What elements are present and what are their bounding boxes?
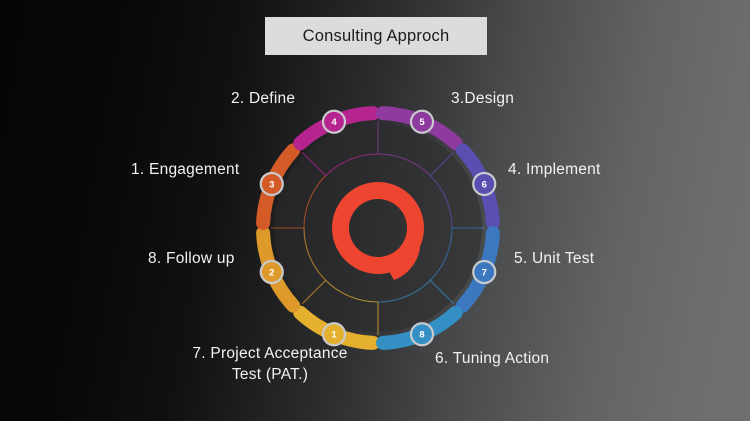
step-label-2: 2. Define (231, 88, 295, 109)
step-label-7-line1: 7. Project Acceptance (192, 345, 347, 362)
slide-canvas: Consulting Approch 12345678 1. Engagemen… (0, 0, 750, 421)
badge-number-8: 8 (419, 330, 424, 341)
step-badge-8[interactable]: 8 (411, 323, 433, 345)
step-label-4: 4. Implement (508, 159, 601, 180)
step-badge-5[interactable]: 5 (411, 111, 433, 133)
step-badge-1[interactable]: 1 (323, 323, 345, 345)
badge-number-5: 5 (419, 117, 425, 128)
step-label-8: 8. Follow up (148, 248, 235, 269)
badge-number-7: 7 (482, 267, 487, 278)
step-label-5: 5. Unit Test (514, 248, 594, 269)
step-badge-4[interactable]: 4 (323, 111, 345, 133)
badge-number-2: 2 (269, 267, 274, 278)
badge-number-1: 1 (331, 330, 337, 341)
step-badge-2[interactable]: 2 (261, 261, 283, 283)
step-badge-7[interactable]: 7 (473, 261, 495, 283)
step-label-7-line2: Test (PAT.) (232, 366, 308, 383)
badge-number-6: 6 (482, 179, 487, 190)
step-badge-6[interactable]: 6 (473, 173, 495, 195)
step-label-7: 7. Project Acceptance Test (PAT.) (170, 343, 370, 386)
badge-number-4: 4 (331, 117, 337, 128)
step-badge-3[interactable]: 3 (261, 173, 283, 195)
step-label-1: 1. Engagement (131, 159, 239, 180)
step-label-3: 3.Design (451, 88, 514, 109)
badge-number-3: 3 (269, 179, 274, 190)
step-label-6: 6. Tuning Action (435, 348, 549, 369)
process-circle-diagram: 12345678 (0, 0, 750, 421)
